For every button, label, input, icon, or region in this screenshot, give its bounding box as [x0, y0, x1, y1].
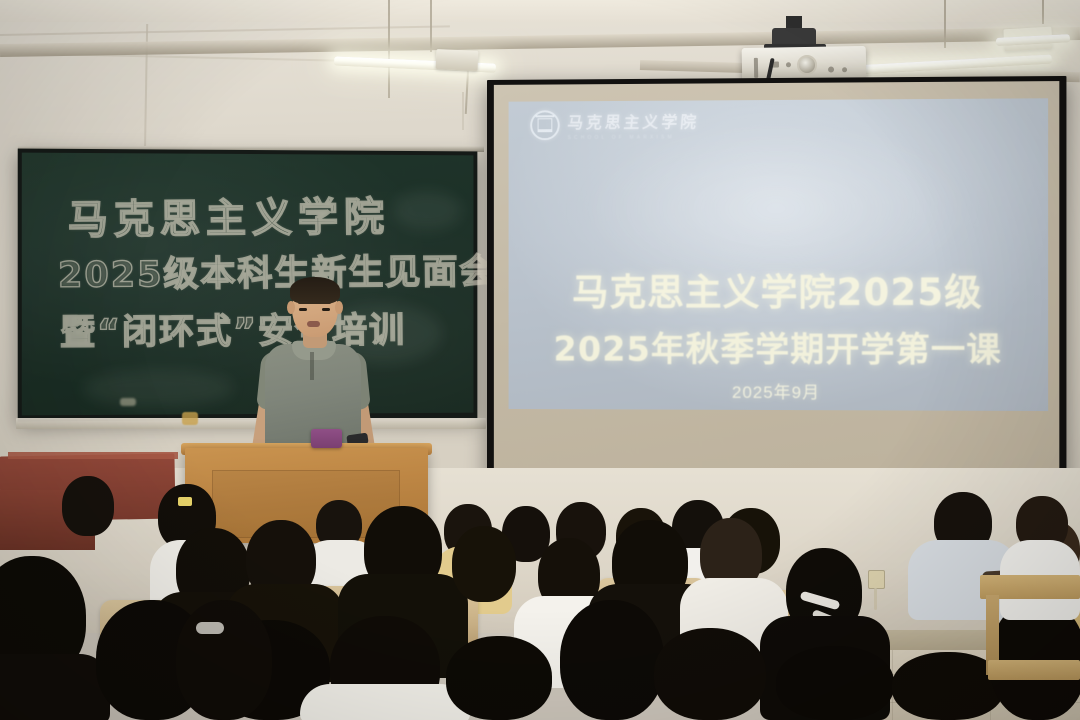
student-head	[654, 628, 766, 720]
student-head	[776, 646, 894, 720]
student-body	[0, 654, 110, 720]
student-body	[300, 684, 470, 720]
student-head	[452, 526, 516, 602]
student-head	[446, 636, 552, 720]
classroom-photo-scene: 马克思主义学院 2025级本科生新生见面会 暨“闭环式”安全培训 马克思主义学院…	[0, 0, 1080, 720]
hair-tie	[196, 622, 224, 634]
desk-shelf	[988, 660, 1080, 680]
hair-clip	[178, 497, 192, 506]
student-head	[62, 476, 114, 536]
student-head	[560, 600, 664, 720]
audience	[0, 0, 1080, 720]
student-head	[176, 600, 272, 720]
